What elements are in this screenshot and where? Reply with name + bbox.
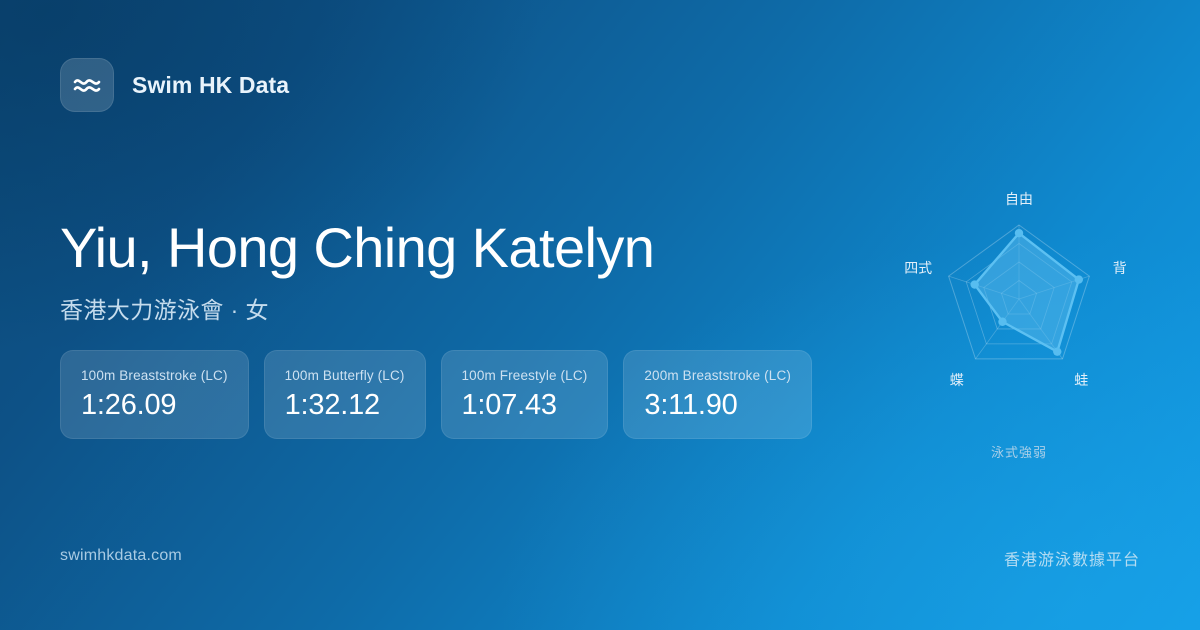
stat-event-label: 200m Breaststroke (LC) xyxy=(644,368,791,383)
stat-event-label: 100m Freestyle (LC) xyxy=(462,368,588,383)
radar-axis-label-2: 蛙 xyxy=(1074,372,1088,388)
waves-icon xyxy=(60,58,114,112)
stat-time-value: 1:32.12 xyxy=(285,390,405,420)
stat-card[interactable]: 100m Breaststroke (LC) 1:26.09 xyxy=(60,350,249,439)
page-title: Yiu, Hong Ching Katelyn xyxy=(60,218,654,277)
brand-name: Swim HK Data xyxy=(132,72,289,99)
stat-time-value: 1:26.09 xyxy=(81,390,228,420)
stat-event-label: 100m Breaststroke (LC) xyxy=(81,368,228,383)
stat-card[interactable]: 200m Breaststroke (LC) 3:11.90 xyxy=(623,350,812,439)
stat-time-value: 3:11.90 xyxy=(644,390,791,420)
stat-time-value: 1:07.43 xyxy=(462,390,588,420)
headline-block: Yiu, Hong Ching Katelyn 香港大力游泳會 · 女 xyxy=(60,218,654,325)
stroke-strength-radar-chart: 自由背蛙蝶四式 泳式強弱 xyxy=(869,176,1169,472)
radar-axis-label-4: 四式 xyxy=(904,260,932,276)
best-times-list: 100m Breaststroke (LC) 1:26.09 100m Butt… xyxy=(60,350,812,439)
stat-card[interactable]: 100m Freestyle (LC) 1:07.43 xyxy=(441,350,609,439)
stat-event-label: 100m Butterfly (LC) xyxy=(285,368,405,383)
radar-svg: 自由背蛙蝶四式 xyxy=(869,176,1169,446)
brand-header[interactable]: Swim HK Data xyxy=(60,58,289,112)
radar-axis-label-0: 自由 xyxy=(1005,191,1033,207)
radar-series-area xyxy=(975,233,1079,352)
share-card: Swim HK Data Yiu, Hong Ching Katelyn 香港大… xyxy=(0,0,1200,630)
radar-axis-label-3: 蝶 xyxy=(950,372,964,388)
radar-caption: 泳式強弱 xyxy=(869,442,1169,461)
footer-site-url[interactable]: swimhkdata.com xyxy=(60,547,182,565)
stat-card[interactable]: 100m Butterfly (LC) 1:32.12 xyxy=(264,350,426,439)
footer-tagline: 香港游泳數據平台 xyxy=(1004,546,1140,570)
radar-axis-label-1: 背 xyxy=(1113,260,1127,276)
athlete-meta: 香港大力游泳會 · 女 xyxy=(60,291,654,325)
